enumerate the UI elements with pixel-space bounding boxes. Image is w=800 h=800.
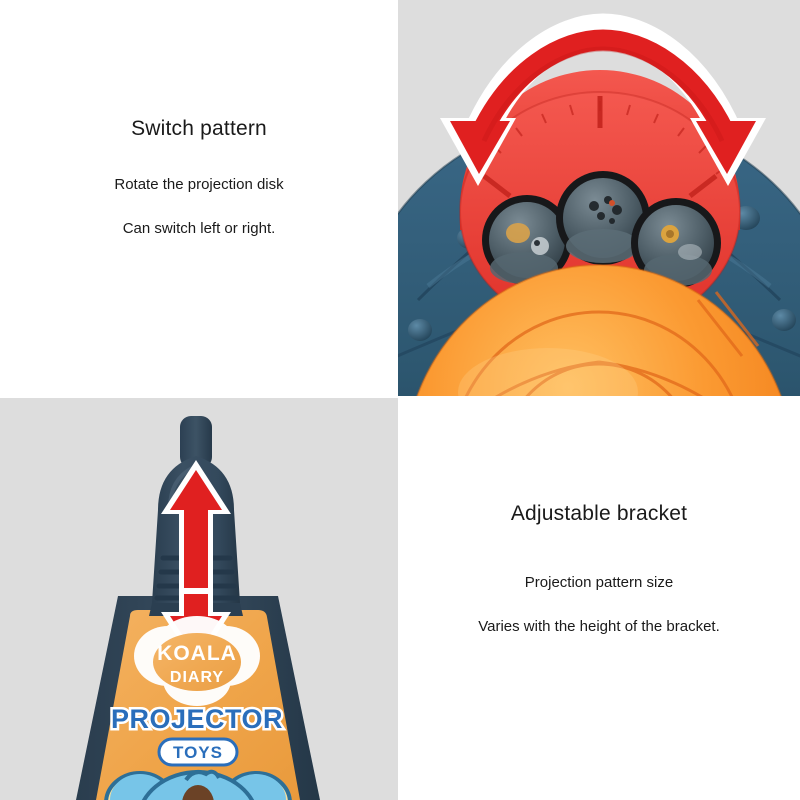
feature-panel-grid: Switch pattern Rotate the projection dis… bbox=[0, 0, 800, 800]
projector-bracket-illustration: KOALA DIARY PROJECTOR PROJECTOR TOYS bbox=[0, 398, 398, 800]
koala-character bbox=[106, 772, 290, 800]
switch-pattern-line-2: Can switch left or right. bbox=[0, 221, 398, 236]
switch-pattern-line-1: Rotate the projection disk bbox=[0, 177, 398, 192]
toys-badge-text: TOYS bbox=[173, 743, 223, 762]
panel-switch-pattern-photo bbox=[398, 0, 800, 396]
panel-switch-pattern-text: Switch pattern Rotate the projection dis… bbox=[0, 0, 398, 396]
logo-diary-text: DIARY bbox=[170, 669, 224, 686]
projector-wordmark: PROJECTOR bbox=[111, 704, 283, 734]
panel-adjustable-bracket-photo: KOALA DIARY PROJECTOR PROJECTOR TOYS bbox=[0, 398, 398, 800]
logo-koala-text: KOALA bbox=[157, 642, 237, 665]
adjustable-bracket-line-1: Projection pattern size bbox=[398, 575, 800, 590]
adjustable-bracket-title: Adjustable bracket bbox=[398, 503, 800, 524]
switch-pattern-title: Switch pattern bbox=[0, 118, 398, 139]
toys-badge: TOYS bbox=[159, 739, 237, 765]
panel-adjustable-bracket-text: Adjustable bracket Projection pattern si… bbox=[398, 398, 800, 800]
projector-disk-illustration bbox=[398, 0, 800, 396]
adjustable-bracket-line-2: Varies with the height of the bracket. bbox=[398, 619, 800, 634]
